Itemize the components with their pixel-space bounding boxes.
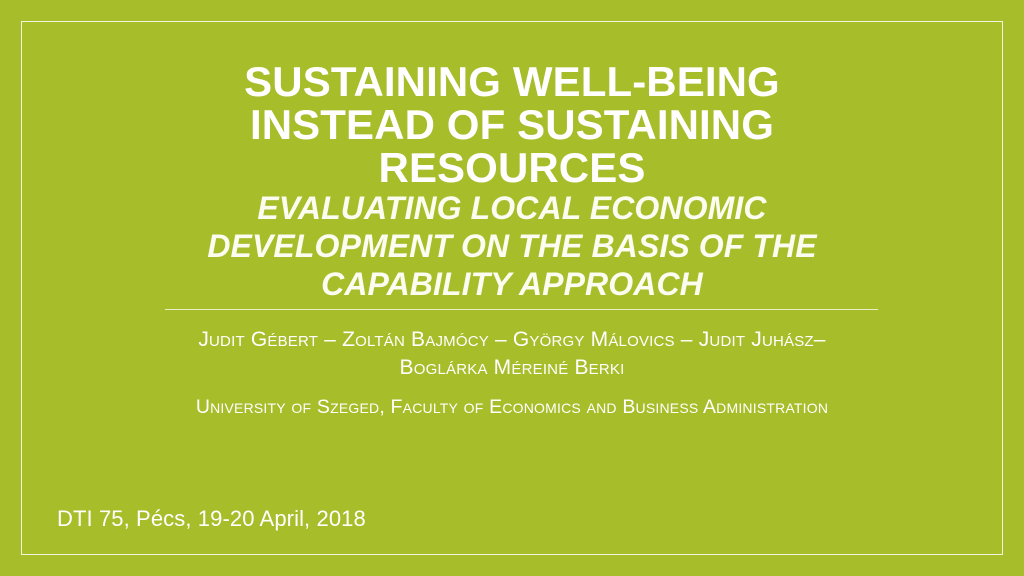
- author-line-1: Judit Gébert – Zoltán Bajmócy – György M…: [62, 326, 962, 354]
- horizontal-divider: [165, 309, 878, 310]
- subtitle-line-3: CAPABILITY APPROACH: [62, 265, 962, 303]
- authors-block: Judit Gébert – Zoltán Bajmócy – György M…: [62, 326, 962, 382]
- title-line-2: INSTEAD OF SUSTAINING: [62, 103, 962, 146]
- title-block: SUSTAINING WELL-BEING INSTEAD OF SUSTAIN…: [62, 60, 962, 303]
- subtitle-line-2: DEVELOPMENT ON THE BASIS OF THE: [62, 227, 962, 265]
- subtitle-line-1: EVALUATING LOCAL ECONOMIC: [62, 189, 962, 227]
- affiliation-block: University of Szeged, Faculty of Economi…: [62, 394, 962, 420]
- footer-event-info: DTI 75, Pécs, 19-20 April, 2018: [57, 505, 366, 533]
- title-line-3: RESOURCES: [62, 146, 962, 189]
- author-line-2: Boglárka Méreiné Berki: [62, 354, 962, 382]
- affiliation-line-1: University of Szeged, Faculty of Economi…: [62, 394, 962, 420]
- title-line-1: SUSTAINING WELL-BEING: [62, 60, 962, 103]
- presentation-slide: SUSTAINING WELL-BEING INSTEAD OF SUSTAIN…: [0, 0, 1024, 576]
